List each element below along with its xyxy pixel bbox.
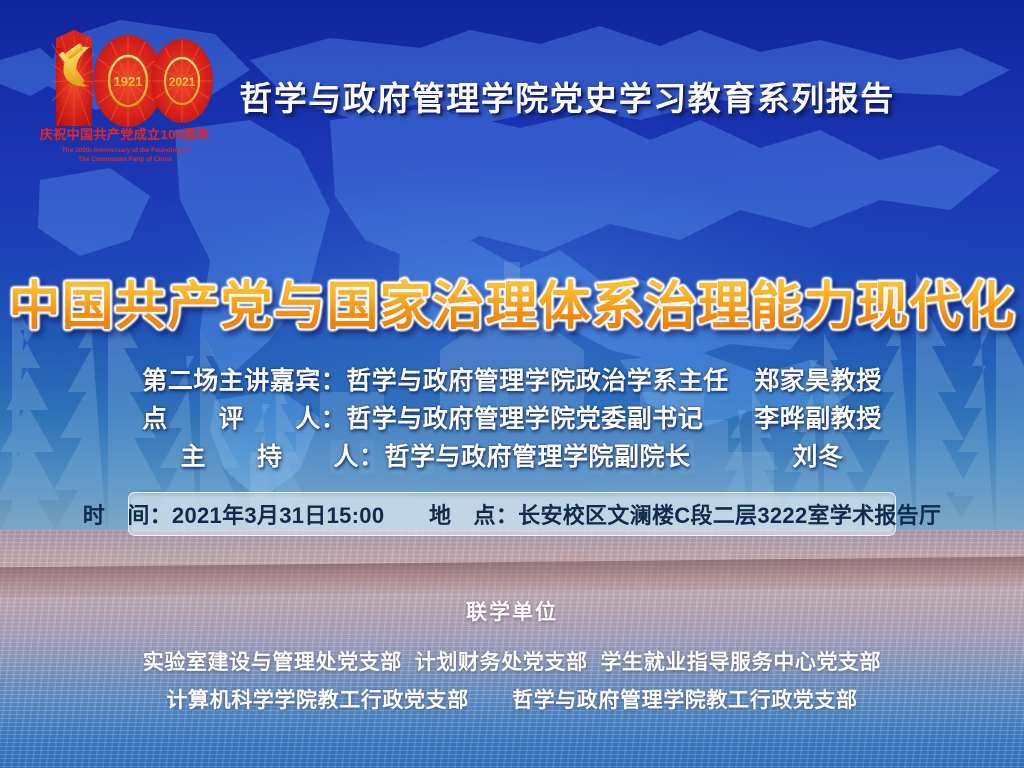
logo-chinese-caption: 庆祝中国共产党成立100周年 xyxy=(39,127,210,142)
credit-line-host: 主 持 人：哲学与政府管理学院副院长 刘冬 xyxy=(0,438,1024,476)
credits-block: 第二场主讲嘉宾：哲学与政府管理学院政治学系主任 郑家昊教授 点 评 人：哲学与政… xyxy=(0,362,1024,476)
logo-english-caption-line1: The 100th Anniversary of the Founding of xyxy=(62,147,189,154)
logo-english-caption-line2: The Communist Party of China xyxy=(78,156,172,163)
main-lecture-title: 中国共产党与国家治理体系治理能力现代化 xyxy=(0,264,1024,339)
partner-units-block: 联学单位 实验室建设与管理处党支部 计划财务处党支部 学生就业指导服务中心党支部… xyxy=(0,596,1024,720)
partner-units-line-1: 实验室建设与管理处党支部 计划财务处党支部 学生就业指导服务中心党支部 xyxy=(0,644,1024,682)
time-and-place-bar: 时 间：2021年3月31日15:00 地 点：长安校区文澜楼C段二层3222室… xyxy=(128,492,896,536)
header-series-title: 哲学与政府管理学院党史学习教育系列报告 xyxy=(0,72,1024,120)
partner-units-heading: 联学单位 xyxy=(0,596,1024,626)
poster-canvas: 1921 2021 庆祝中国共产党成立100周年 The 100th Anniv… xyxy=(0,0,1024,768)
partner-units-line-2: 计算机科学学院教工行政党支部 哲学与政府管理学院教工行政党支部 xyxy=(0,682,1024,720)
credit-line-commentator: 点 评 人：哲学与政府管理学院党委副书记 李晔副教授 xyxy=(0,400,1024,438)
time-and-place-text: 时 间：2021年3月31日15:00 地 点：长安校区文澜楼C段二层3222室… xyxy=(83,498,942,530)
credit-line-speaker: 第二场主讲嘉宾：哲学与政府管理学院政治学系主任 郑家昊教授 xyxy=(0,362,1024,400)
